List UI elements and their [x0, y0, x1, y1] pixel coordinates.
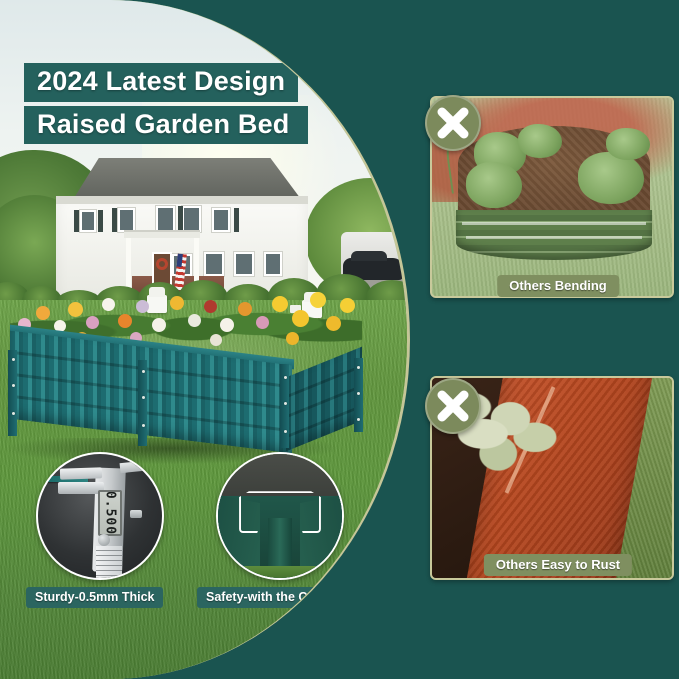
hero-product-panel: 2024 Latest Design Raised Garden Bed 0.5… — [0, 0, 410, 679]
comparison-label-rust: Others Easy to Rust — [484, 554, 632, 576]
leafy-plant — [578, 152, 644, 204]
house-window — [80, 210, 96, 232]
house-trim-band — [56, 196, 308, 204]
house-window — [156, 206, 175, 232]
flower — [326, 316, 341, 331]
infographic-canvas: 2024 Latest Design Raised Garden Bed 0.5… — [0, 0, 679, 679]
window-shutter — [234, 208, 239, 232]
caliper-measurement-value: 0.500 — [103, 491, 118, 535]
house-window — [212, 208, 230, 232]
caliper-knob — [130, 510, 142, 518]
house-window — [182, 206, 201, 232]
flower — [118, 314, 132, 328]
flower — [292, 310, 309, 327]
flower — [68, 302, 83, 317]
window-shutter — [98, 210, 103, 232]
bending-garden-bed — [456, 126, 652, 266]
flower — [102, 298, 115, 311]
feature-safety: Safety-with the Corner Protector — [216, 452, 407, 608]
leafy-plant — [606, 128, 650, 160]
house-window — [118, 208, 135, 232]
flower — [36, 306, 50, 320]
caliper-tip — [120, 461, 145, 473]
flower — [310, 292, 326, 308]
window-shutter — [74, 210, 79, 232]
house-roof — [52, 158, 312, 200]
leafy-plant — [518, 124, 562, 158]
caliper-thumbwheel — [98, 534, 110, 546]
window-shutter — [178, 206, 183, 232]
bed-side-wall — [286, 347, 362, 452]
flower — [204, 300, 217, 313]
headline-line-2: Raised Garden Bed — [24, 106, 308, 145]
window-shutter — [112, 208, 117, 232]
flower — [86, 316, 99, 329]
bed-front-wall — [10, 331, 292, 454]
caliper-icon: 0.500 — [36, 452, 164, 580]
flower — [340, 298, 355, 313]
x-mark-icon — [425, 378, 481, 434]
grass-bottom — [218, 566, 342, 578]
flower — [170, 296, 184, 310]
bed-corner-post — [8, 350, 17, 436]
x-mark-icon — [425, 95, 481, 151]
bowed-bed-wall — [456, 210, 652, 260]
comparison-label-bending: Others Bending — [497, 275, 619, 297]
porch-roof — [124, 230, 200, 238]
caliper-scale — [96, 546, 122, 580]
corner-protector-icon — [216, 452, 344, 580]
flower — [136, 300, 149, 313]
raised-garden-bed-product — [10, 330, 362, 460]
leafy-plant — [466, 162, 522, 208]
title-block: 2024 Latest Design Raised Garden Bed — [24, 63, 308, 144]
flower — [272, 296, 288, 312]
door-wreath — [156, 258, 168, 270]
feature-sturdy: 0.500 Sturdy-0.5mm Thick — [36, 452, 164, 608]
headline-line-1: 2024 Latest Design — [24, 63, 298, 102]
flower — [238, 302, 252, 316]
caliper-lcd-display: 0.500 — [98, 490, 122, 536]
flower — [188, 314, 201, 327]
caliper-upper-jaw — [60, 467, 102, 479]
feature-label-safety: Safety-with the Corner Protector — [197, 587, 407, 608]
flower — [256, 316, 269, 329]
feature-label-sturdy: Sturdy-0.5mm Thick — [26, 587, 163, 608]
